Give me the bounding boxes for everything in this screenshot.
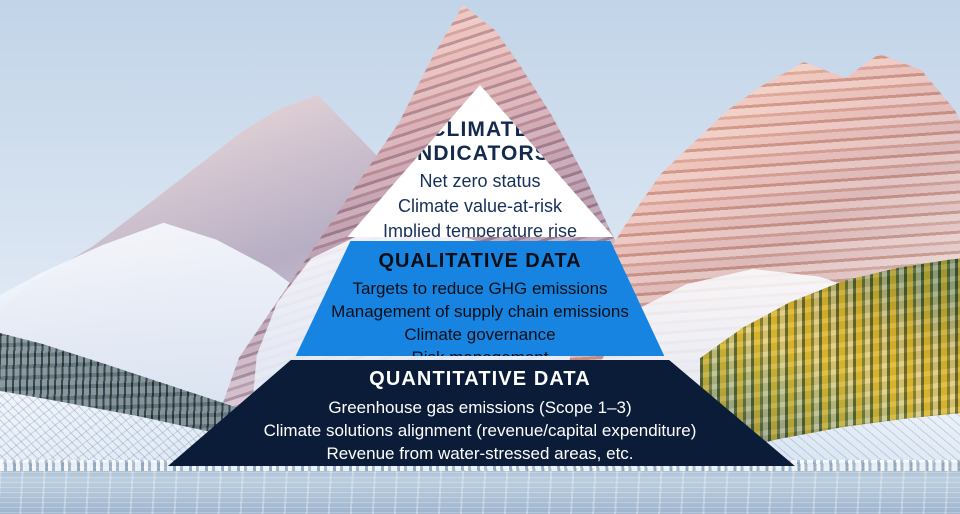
tier-item: Climate governance xyxy=(404,324,555,345)
tier-item: Revenue from water-stressed areas, etc. xyxy=(326,443,633,464)
tier-item: Targets to reduce GHG emissions xyxy=(352,278,607,299)
tier-item: Climate solutions alignment (revenue/cap… xyxy=(264,420,697,441)
tier-item: Climate value-at-risk xyxy=(398,195,562,217)
tier-title-line-2: INDICATORS xyxy=(410,142,550,166)
tier-item: Net zero status xyxy=(419,170,540,192)
tier-title-qualitative-data: QUALITATIVE DATA xyxy=(379,250,582,273)
tier-item: Management of supply chain emissions xyxy=(331,301,629,322)
infographic-canvas: CLIMATE INDICATORS Net zero status Clima… xyxy=(0,0,960,514)
tier-title-quantitative-data: QUANTITATIVE DATA xyxy=(369,368,591,391)
tier-item: Greenhouse gas emissions (Scope 1–3) xyxy=(328,397,631,418)
